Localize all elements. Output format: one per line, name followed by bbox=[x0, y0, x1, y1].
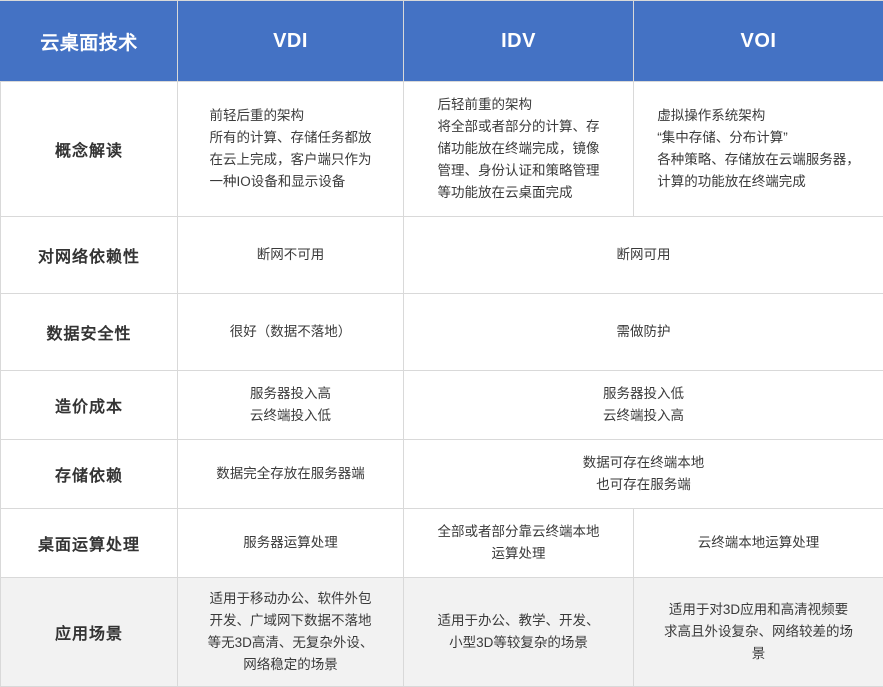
table-cell: 需做防护 bbox=[404, 294, 883, 371]
cell-text-line: 等无3D高清、无复杂外设、 bbox=[188, 632, 393, 654]
row-label-cell: 桌面运算处理 bbox=[1, 509, 178, 578]
cell-text-line: 将全部或者部分的计算、存 bbox=[438, 116, 600, 138]
header-row: 云桌面技术 VDI IDV VOI bbox=[1, 1, 883, 82]
table-row: 概念解读前轻后重的架构所有的计算、存储任务都放在云上完成，客户端只作为一种IO设… bbox=[1, 82, 883, 217]
cell-text-line: 断网可用 bbox=[414, 244, 873, 266]
table-row: 存储依赖数据完全存放在服务器端数据可存在终端本地也可存在服务端 bbox=[1, 440, 883, 509]
cell-text-line: 计算的功能放在终端完成 bbox=[657, 171, 860, 193]
cell-text: 云终端本地运算处理 bbox=[644, 532, 873, 554]
table-row: 数据安全性很好（数据不落地）需做防护 bbox=[1, 294, 883, 371]
cell-text-line: 服务器投入高 bbox=[188, 383, 393, 405]
table-body: 概念解读前轻后重的架构所有的计算、存储任务都放在云上完成，客户端只作为一种IO设… bbox=[1, 82, 883, 687]
table-cell: 云终端本地运算处理 bbox=[634, 509, 883, 578]
cell-text: 后轻前重的架构将全部或者部分的计算、存储功能放在终端完成，镜像管理、身份认证和策… bbox=[438, 94, 600, 203]
cell-text-line: 小型3D等较复杂的场景 bbox=[414, 632, 623, 654]
cell-text-line: 所有的计算、存储任务都放 bbox=[210, 127, 372, 149]
cell-text-line: 开发、广域网下数据不落地 bbox=[188, 610, 393, 632]
cell-text-line: 后轻前重的架构 bbox=[438, 94, 600, 116]
cell-text-line: 全部或者部分靠云终端本地 bbox=[414, 521, 623, 543]
table-row: 对网络依赖性断网不可用断网可用 bbox=[1, 217, 883, 294]
cell-text: 数据完全存放在服务器端 bbox=[188, 463, 393, 485]
cell-text-line: “集中存储、分布计算” bbox=[657, 127, 860, 149]
cell-text: 数据可存在终端本地也可存在服务端 bbox=[414, 452, 873, 496]
cell-text-line: 一种IO设备和显示设备 bbox=[210, 171, 372, 193]
cell-text: 服务器投入低云终端投入高 bbox=[414, 383, 873, 427]
table-cell: 数据完全存放在服务器端 bbox=[178, 440, 404, 509]
cell-text: 适用于办公、教学、开发、小型3D等较复杂的场景 bbox=[414, 610, 623, 654]
cell-text: 很好（数据不落地） bbox=[188, 321, 393, 343]
row-label-cell: 应用场景 bbox=[1, 578, 178, 687]
table-cell: 服务器运算处理 bbox=[178, 509, 404, 578]
table-cell: 全部或者部分靠云终端本地运算处理 bbox=[404, 509, 634, 578]
cell-text: 断网可用 bbox=[414, 244, 873, 266]
cell-text-line: 云终端投入低 bbox=[188, 405, 393, 427]
cell-text: 适用于对3D应用和高清视频要求高且外设复杂、网络较差的场景 bbox=[644, 599, 873, 665]
cell-text-line: 等功能放在云桌面完成 bbox=[438, 182, 600, 204]
header-cell-vdi: VDI bbox=[178, 1, 404, 82]
cell-text-line: 服务器运算处理 bbox=[188, 532, 393, 554]
row-label-cell: 存储依赖 bbox=[1, 440, 178, 509]
cell-text: 前轻后重的架构所有的计算、存储任务都放在云上完成，客户端只作为一种IO设备和显示… bbox=[210, 105, 372, 192]
cell-text-line: 运算处理 bbox=[414, 543, 623, 565]
cell-text-line: 景 bbox=[644, 643, 873, 665]
cell-text-line: 数据可存在终端本地 bbox=[414, 452, 873, 474]
table-cell: 服务器投入高云终端投入低 bbox=[178, 371, 404, 440]
table-row: 造价成本服务器投入高云终端投入低服务器投入低云终端投入高 bbox=[1, 371, 883, 440]
table-cell: 前轻后重的架构所有的计算、存储任务都放在云上完成，客户端只作为一种IO设备和显示… bbox=[178, 82, 404, 217]
table-cell: 适用于对3D应用和高清视频要求高且外设复杂、网络较差的场景 bbox=[634, 578, 883, 687]
header-cell-label: 云桌面技术 bbox=[1, 1, 178, 82]
header-cell-idv: IDV bbox=[404, 1, 634, 82]
row-label-cell: 对网络依赖性 bbox=[1, 217, 178, 294]
cell-text-line: 虚拟操作系统架构 bbox=[657, 105, 860, 127]
table-cell: 虚拟操作系统架构“集中存储、分布计算”各种策略、存储放在云端服务器，计算的功能放… bbox=[634, 82, 883, 217]
table-cell: 服务器投入低云终端投入高 bbox=[404, 371, 883, 440]
table-header: 云桌面技术 VDI IDV VOI bbox=[1, 1, 883, 82]
cell-text-line: 云终端本地运算处理 bbox=[644, 532, 873, 554]
cell-text-line: 网络稳定的场景 bbox=[188, 654, 393, 676]
cell-text: 虚拟操作系统架构“集中存储、分布计算”各种策略、存储放在云端服务器，计算的功能放… bbox=[657, 105, 860, 192]
cell-text: 适用于移动办公、软件外包开发、广域网下数据不落地等无3D高清、无复杂外设、网络稳… bbox=[188, 588, 393, 675]
cell-text: 服务器运算处理 bbox=[188, 532, 393, 554]
cell-text-line: 也可存在服务端 bbox=[414, 474, 873, 496]
cell-text-line: 储功能放在终端完成，镜像 bbox=[438, 138, 600, 160]
cell-text-line: 前轻后重的架构 bbox=[210, 105, 372, 127]
cloud-desktop-comparison-table: 云桌面技术 VDI IDV VOI 概念解读前轻后重的架构所有的计算、存储任务都… bbox=[0, 0, 883, 687]
table-cell: 断网可用 bbox=[404, 217, 883, 294]
cell-text-line: 需做防护 bbox=[414, 321, 873, 343]
table-cell: 后轻前重的架构将全部或者部分的计算、存储功能放在终端完成，镜像管理、身份认证和策… bbox=[404, 82, 634, 217]
row-label-cell: 造价成本 bbox=[1, 371, 178, 440]
cell-text-line: 各种策略、存储放在云端服务器， bbox=[657, 149, 860, 171]
table-cell: 适用于办公、教学、开发、小型3D等较复杂的场景 bbox=[404, 578, 634, 687]
table-cell: 很好（数据不落地） bbox=[178, 294, 404, 371]
cell-text-line: 数据完全存放在服务器端 bbox=[188, 463, 393, 485]
cell-text: 全部或者部分靠云终端本地运算处理 bbox=[414, 521, 623, 565]
cell-text-line: 服务器投入低 bbox=[414, 383, 873, 405]
cell-text-line: 在云上完成，客户端只作为 bbox=[210, 149, 372, 171]
table-cell: 适用于移动办公、软件外包开发、广域网下数据不落地等无3D高清、无复杂外设、网络稳… bbox=[178, 578, 404, 687]
cell-text-line: 求高且外设复杂、网络较差的场 bbox=[644, 621, 873, 643]
header-cell-voi: VOI bbox=[634, 1, 883, 82]
table-row: 应用场景适用于移动办公、软件外包开发、广域网下数据不落地等无3D高清、无复杂外设… bbox=[1, 578, 883, 687]
cell-text: 服务器投入高云终端投入低 bbox=[188, 383, 393, 427]
cell-text: 需做防护 bbox=[414, 321, 873, 343]
table-cell: 数据可存在终端本地也可存在服务端 bbox=[404, 440, 883, 509]
table-cell: 断网不可用 bbox=[178, 217, 404, 294]
cell-text-line: 适用于移动办公、软件外包 bbox=[188, 588, 393, 610]
row-label-cell: 数据安全性 bbox=[1, 294, 178, 371]
cell-text-line: 适用于办公、教学、开发、 bbox=[414, 610, 623, 632]
cell-text-line: 适用于对3D应用和高清视频要 bbox=[644, 599, 873, 621]
row-label-cell: 概念解读 bbox=[1, 82, 178, 217]
cell-text-line: 断网不可用 bbox=[188, 244, 393, 266]
table-row: 桌面运算处理服务器运算处理全部或者部分靠云终端本地运算处理云终端本地运算处理 bbox=[1, 509, 883, 578]
cell-text-line: 管理、身份认证和策略管理 bbox=[438, 160, 600, 182]
cell-text: 断网不可用 bbox=[188, 244, 393, 266]
cell-text-line: 云终端投入高 bbox=[414, 405, 873, 427]
cell-text-line: 很好（数据不落地） bbox=[188, 321, 393, 343]
